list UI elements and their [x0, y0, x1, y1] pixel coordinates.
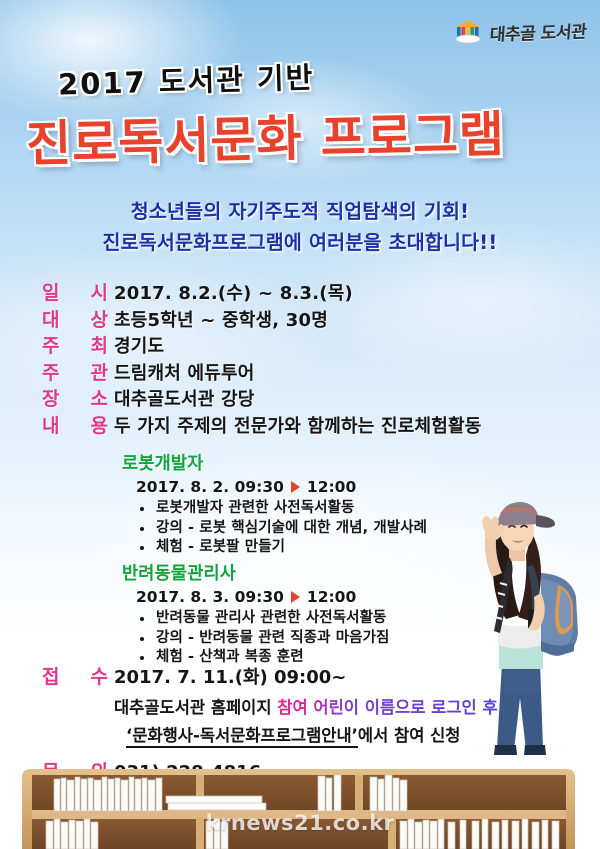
bookshelf-image: [0, 759, 600, 849]
info-row-label: 주 최: [42, 331, 114, 358]
info-table: 일 시 2017. 8.2.(수) ~ 8.3.(목) 대 상 초등5학년 ~ …: [42, 278, 572, 437]
info-label-char-a: 내: [42, 411, 59, 438]
info-row-value: 경기도: [114, 332, 164, 358]
info-label-char-a: 주: [42, 358, 59, 385]
program-end-time: 12:00: [307, 478, 356, 496]
application-site-text: 대추골도서관 홈페이지: [114, 698, 277, 717]
info-row: 장 소 대추골도서관 강당: [42, 384, 572, 411]
info-row-label: 내 용: [42, 411, 114, 438]
info-label-char-a: 장: [42, 384, 59, 411]
application-label: 접 수: [42, 662, 114, 689]
info-row-label: 장 소: [42, 384, 114, 411]
application-highlight-child: 참여 어린이: [277, 698, 359, 717]
application-instruction-line-2: ‘문화행사-독서문화프로그램안내’에서 참여 신청: [126, 722, 582, 746]
info-label-char-a: 주: [42, 331, 59, 358]
program-title: 로봇개발자: [122, 450, 522, 475]
library-logo: 대추골 도서관: [453, 18, 586, 44]
info-row-value: 2017. 8.2.(수) ~ 8.3.(목): [114, 279, 353, 305]
application-instruction-line-1: 대추골도서관 홈페이지 참여 어린이 이름으로 로그인 후: [114, 694, 582, 718]
lead-line-2: 진로독서문화프로그램에 여러분을 초대합니다!!: [0, 227, 600, 258]
info-row: 주 최 경기도: [42, 331, 572, 358]
application-label-char-a: 접: [42, 662, 59, 689]
info-label-char-a: 일: [42, 278, 59, 305]
application-menu-tail: 에서 참여 신청: [358, 726, 461, 745]
info-label-char-b: 소: [91, 384, 108, 411]
lead-line-1: 청소년들의 자기주도적 직업탐색의 기회!: [0, 196, 600, 227]
info-row-value: 두 가지 주제의 전문가와 함께하는 진로체험활동: [114, 412, 482, 438]
library-building-icon: [453, 18, 483, 44]
poster-title: 진로독서문화 프로그램: [25, 95, 505, 176]
info-row: 일 시 2017. 8.2.(수) ~ 8.3.(목): [42, 278, 572, 305]
info-row-label: 일 시: [42, 278, 114, 305]
info-row-label: 주 관: [42, 358, 114, 385]
info-label-char-b: 최: [91, 331, 108, 358]
arrow-right-icon: [291, 481, 300, 493]
poster-subtitle: 2017 도서관 기반: [57, 54, 314, 103]
info-label-char-b: 시: [91, 278, 108, 305]
application-highlight-login: 이름으로 로그인 후: [359, 698, 498, 717]
info-label-char-b: 용: [91, 411, 108, 438]
info-label-char-b: 관: [91, 358, 108, 385]
info-row: 내 용 두 가지 주제의 전문가와 함께하는 진로체험활동: [42, 411, 572, 438]
lead-text: 청소년들의 자기주도적 직업탐색의 기회! 진로독서문화프로그램에 여러분을 초…: [0, 196, 600, 258]
application-label-char-b: 수: [91, 662, 108, 689]
info-row-value: 드림캐처 에듀투어: [114, 359, 255, 385]
info-label-char-b: 상: [91, 305, 108, 332]
poster-root: 대추골 도서관 2017 도서관 기반 진로독서문화 프로그램 청소년들의 자기…: [0, 0, 600, 849]
arrow-right-icon: [291, 591, 300, 603]
info-label-char-a: 대: [42, 305, 59, 332]
info-row: 대 상 초등5학년 ~ 중학생, 30명: [42, 305, 572, 332]
info-row-value: 초등5학년 ~ 중학생, 30명: [114, 306, 328, 332]
application-menu-path: ‘문화행사-독서문화프로그램안내’: [126, 726, 358, 748]
application-row: 접 수 2017. 7. 11.(화) 09:00~: [42, 662, 582, 689]
program-date: 2017. 8. 3. 09:30: [136, 588, 284, 606]
application-date: 2017. 7. 11.(화) 09:00~: [114, 663, 346, 689]
info-row: 주 관 드림캐처 에듀투어: [42, 358, 572, 385]
info-row-label: 대 상: [42, 305, 114, 332]
program-date: 2017. 8. 2. 09:30: [136, 478, 284, 496]
library-logo-text: 대추골 도서관: [489, 17, 587, 45]
info-row-value: 대추골도서관 강당: [114, 385, 255, 411]
application-block: 접 수 2017. 7. 11.(화) 09:00~ 대추골도서관 홈페이지 참…: [42, 662, 582, 746]
program-end-time: 12:00: [307, 588, 356, 606]
